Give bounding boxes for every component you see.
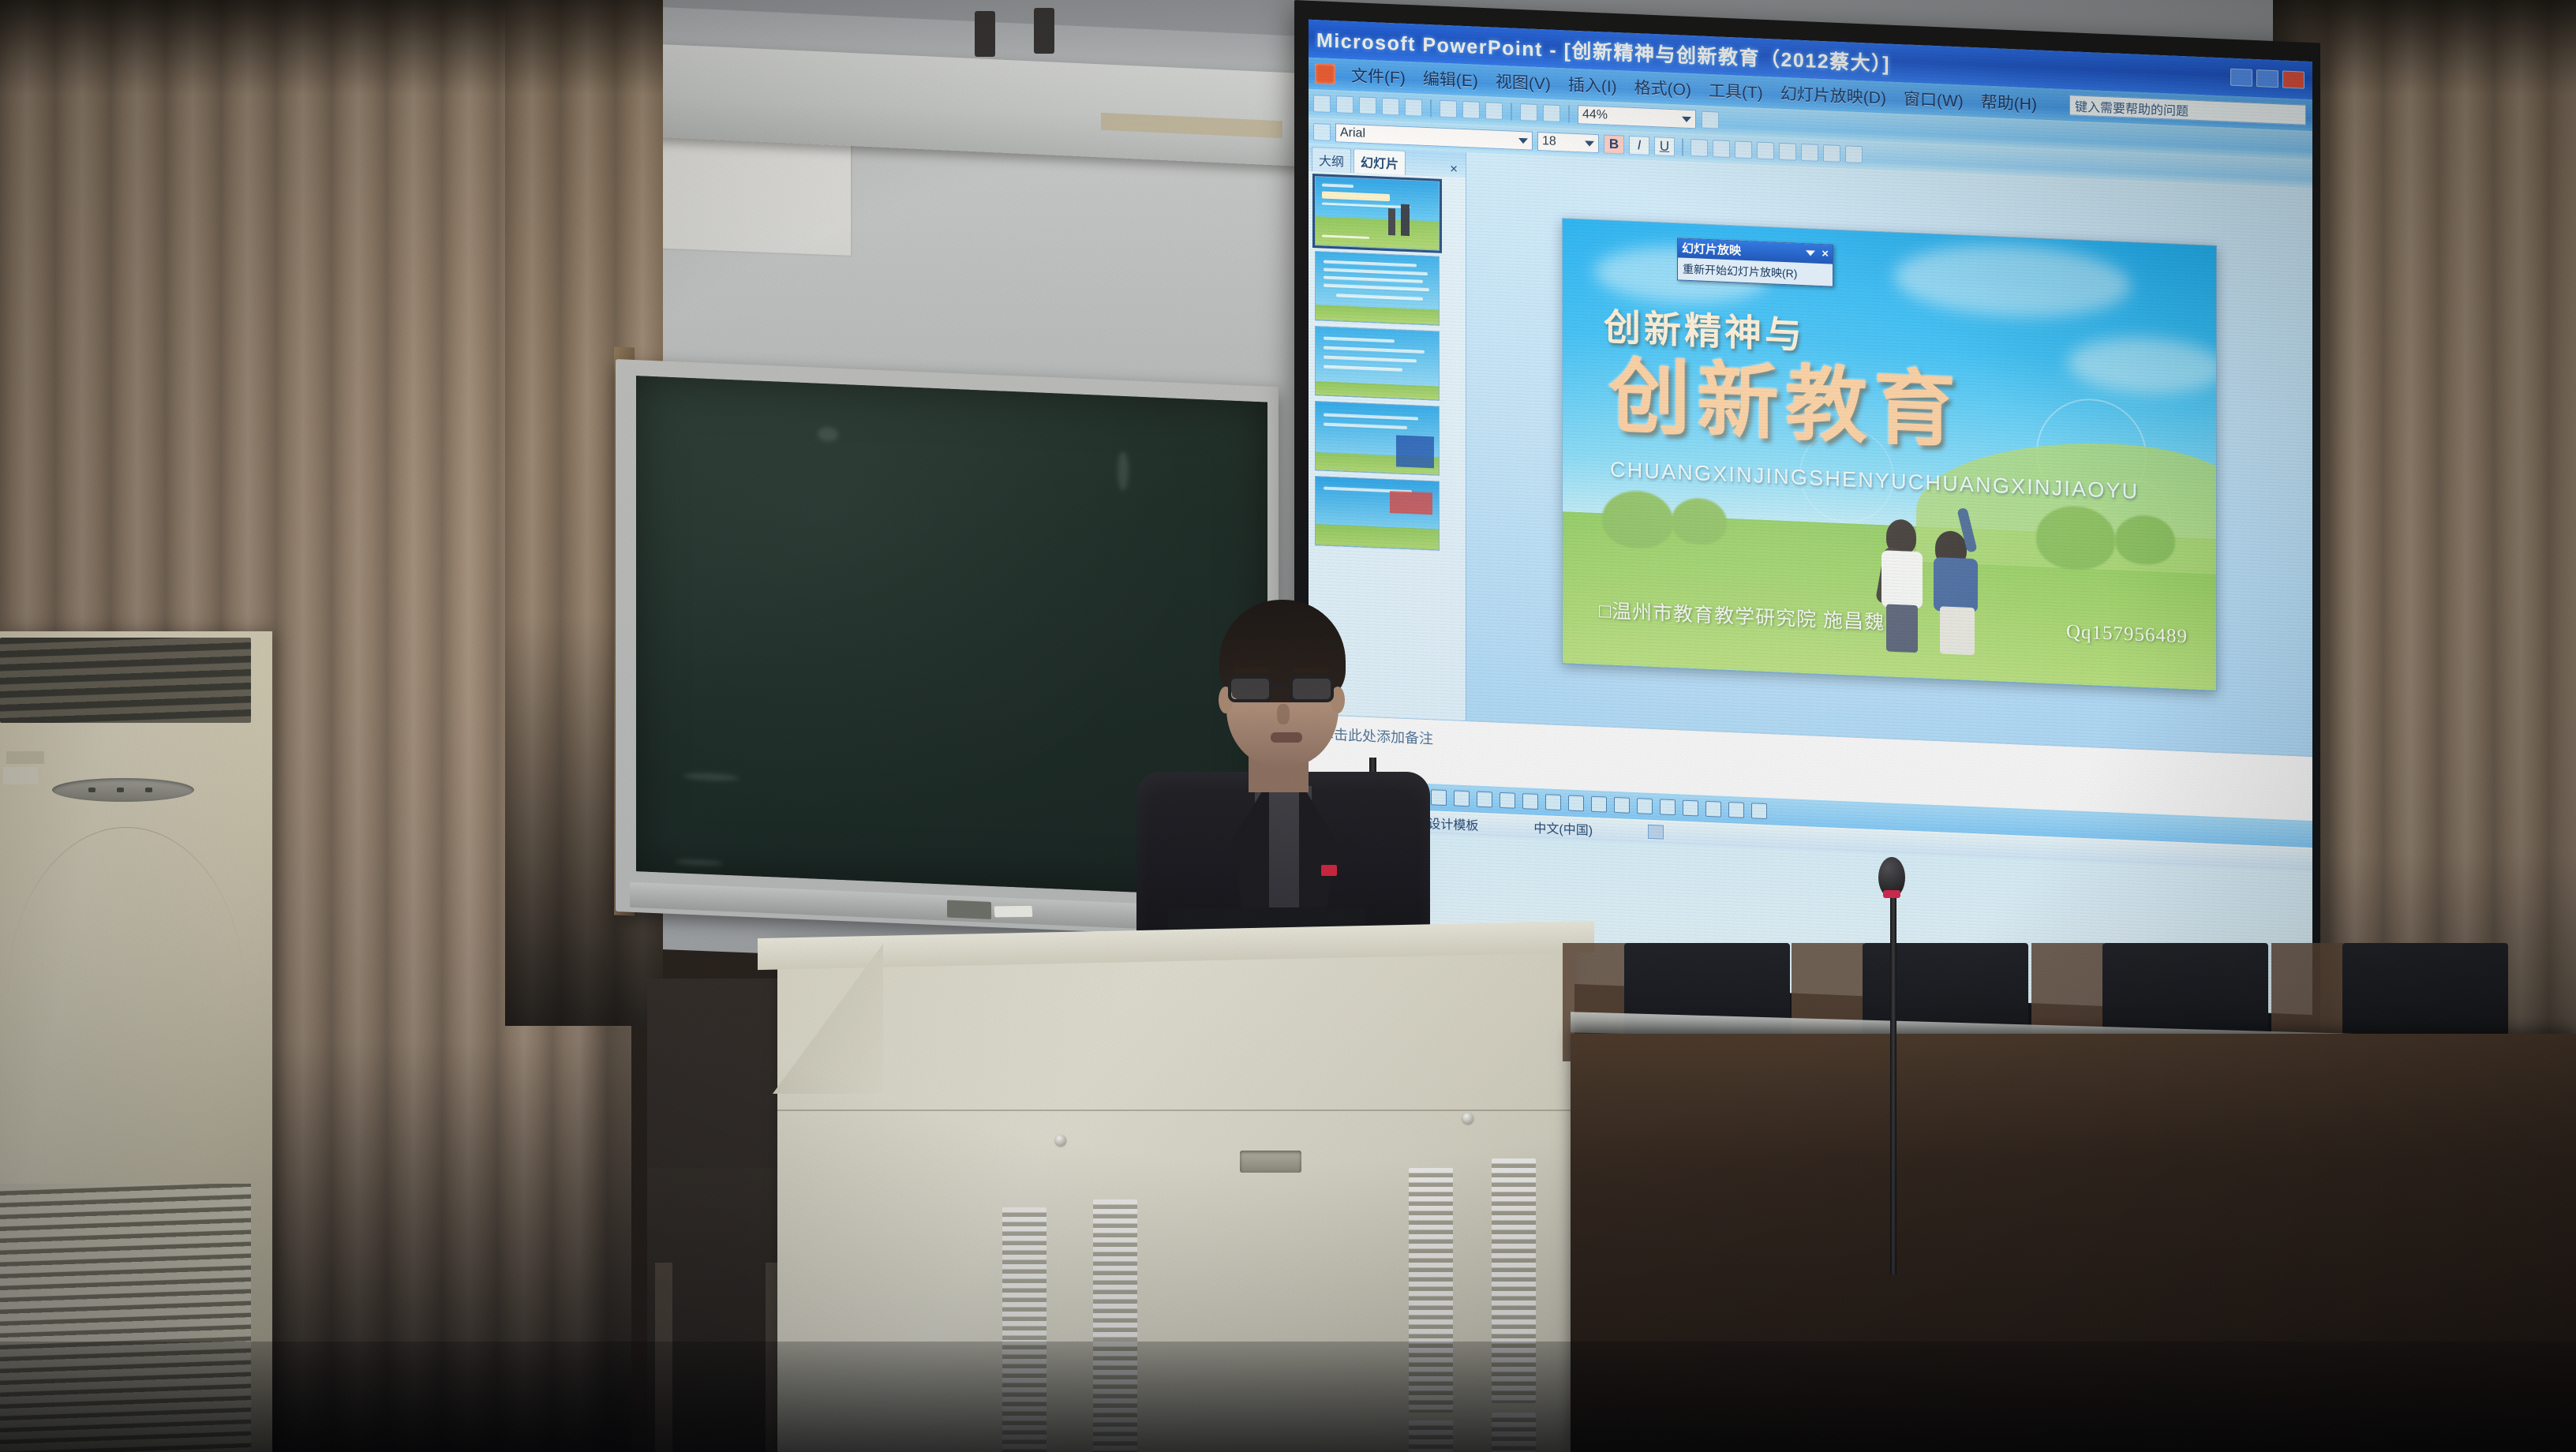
lectern-panel-seam bbox=[777, 1110, 1574, 1111]
slideshow-floating-toolbar[interactable]: 幻灯片放映 × 重新开始幻灯片放映(R) bbox=[1677, 238, 1833, 286]
lectern-screw bbox=[1055, 1135, 1066, 1146]
chalk-smudge bbox=[683, 773, 739, 782]
child-shirt bbox=[1881, 550, 1923, 608]
design-icon[interactable] bbox=[1823, 144, 1840, 163]
lecture-hall-photo: Microsoft PowerPoint - [创新精神与创新教育（2012蔡大… bbox=[0, 0, 2576, 1452]
align-center-icon[interactable] bbox=[1713, 140, 1730, 158]
chalk-smudge bbox=[818, 427, 838, 442]
shadow-icon[interactable] bbox=[1728, 802, 1744, 818]
tab-outline[interactable]: 大纲 bbox=[1312, 147, 1351, 173]
child-shirt bbox=[1934, 556, 1978, 612]
bullets-icon[interactable] bbox=[1757, 142, 1774, 160]
help-icon[interactable] bbox=[1702, 111, 1719, 129]
menu-item-insert[interactable]: 插入(I) bbox=[1560, 70, 1625, 99]
spellcheck-icon[interactable] bbox=[1648, 825, 1664, 840]
curtain-rod-bracket-right bbox=[1034, 8, 1054, 54]
font-color-icon[interactable] bbox=[1637, 798, 1653, 814]
child-pants bbox=[1940, 606, 1975, 655]
textbox-icon[interactable] bbox=[1477, 791, 1492, 808]
podium-microphone-stand bbox=[1890, 864, 1896, 1274]
powerpoint-main-area: 大纲 幻灯片 × bbox=[1309, 146, 2312, 756]
font-size-combobox[interactable]: 18 bbox=[1537, 132, 1599, 153]
chalk-smudge bbox=[676, 859, 723, 866]
insert-chart-icon[interactable] bbox=[1520, 103, 1537, 122]
menu-item-help[interactable]: 帮助(H) bbox=[1973, 88, 2045, 118]
toolbar-separator bbox=[1430, 99, 1432, 117]
outline-level-icon[interactable] bbox=[1313, 123, 1331, 141]
chevron-down-icon[interactable] bbox=[1518, 137, 1528, 144]
presenter-badge-pin bbox=[1321, 865, 1337, 876]
close-icon[interactable] bbox=[2282, 70, 2305, 88]
save-icon[interactable] bbox=[1359, 96, 1376, 114]
tab-slides[interactable]: 幻灯片 bbox=[1354, 148, 1406, 175]
align-right-icon[interactable] bbox=[1735, 140, 1752, 159]
line-style-icon[interactable] bbox=[1660, 799, 1676, 815]
italic-button[interactable]: I bbox=[1629, 136, 1649, 155]
thumbnail-figure bbox=[1388, 208, 1395, 235]
redo-icon[interactable] bbox=[1485, 102, 1503, 120]
zoom-combobox[interactable]: 44% bbox=[1578, 105, 1696, 129]
spelling-icon[interactable] bbox=[1440, 100, 1457, 118]
bold-button[interactable]: B bbox=[1604, 134, 1624, 154]
curtain-top-shadow-mid bbox=[505, 0, 663, 95]
window-controls[interactable] bbox=[2230, 69, 2305, 89]
thumbnail-grass bbox=[1316, 216, 1439, 250]
ac-brand-logo bbox=[6, 751, 44, 764]
presenter-eyebrow-right bbox=[1293, 668, 1329, 672]
rectangle-icon[interactable] bbox=[1431, 789, 1447, 806]
close-pane-icon[interactable]: × bbox=[1445, 161, 1462, 178]
new-icon[interactable] bbox=[1313, 95, 1331, 113]
projection-screen: Microsoft PowerPoint - [创新精神与创新教育（2012蔡大… bbox=[1294, 0, 2320, 1037]
decrease-font-icon[interactable] bbox=[1801, 144, 1818, 162]
menu-item-format[interactable]: 格式(O) bbox=[1627, 73, 1699, 103]
ac-top-louvers bbox=[0, 638, 251, 723]
presenter-mouth bbox=[1271, 732, 1302, 743]
thumbnail-image bbox=[1396, 435, 1434, 468]
diagram-icon[interactable] bbox=[1522, 793, 1538, 810]
print-preview-icon[interactable] bbox=[1405, 99, 1422, 117]
insert-table-icon[interactable] bbox=[1543, 104, 1560, 122]
lectern-handle[interactable] bbox=[1240, 1151, 1301, 1173]
slide-editing-stage[interactable]: 创新精神与 创新教育 CHUANGXINJINGSHENYUCHUANGXINJ… bbox=[1466, 152, 2312, 756]
zoom-value: 44% bbox=[1582, 107, 1608, 122]
menu-item-view[interactable]: 视图(V) bbox=[1488, 67, 1559, 97]
close-icon[interactable]: × bbox=[1822, 247, 1829, 260]
thumbnail-figure bbox=[1401, 204, 1410, 236]
undo-icon[interactable] bbox=[1462, 101, 1480, 119]
print-icon[interactable] bbox=[1382, 98, 1399, 116]
glasses-icon bbox=[1290, 675, 1334, 702]
design-template-label: 设计模板 bbox=[1428, 813, 1478, 834]
oval-icon[interactable] bbox=[1454, 790, 1470, 806]
minimize-icon[interactable] bbox=[2230, 69, 2252, 87]
open-icon[interactable] bbox=[1336, 95, 1354, 114]
ac-indicator-led bbox=[117, 788, 124, 792]
font-size-value: 18 bbox=[1542, 134, 1556, 149]
toolbar-separator bbox=[1682, 139, 1683, 156]
active-slide[interactable]: 创新精神与 创新教育 CHUANGXINJINGSHENYUCHUANGXINJ… bbox=[1562, 218, 2217, 691]
microphone-indicator bbox=[1883, 890, 1900, 898]
underline-button[interactable]: U bbox=[1654, 137, 1675, 156]
ac-indicator-led bbox=[88, 788, 95, 792]
chevron-down-icon[interactable] bbox=[1585, 140, 1594, 147]
powerpoint-window: Microsoft PowerPoint - [创新精神与创新教育（2012蔡大… bbox=[1309, 20, 2312, 1015]
slide-thumbnail-1[interactable] bbox=[1315, 176, 1440, 251]
align-left-icon[interactable] bbox=[1690, 139, 1708, 157]
dash-style-icon[interactable] bbox=[1683, 800, 1698, 817]
slide-title-line-2: 创新教育 bbox=[1608, 354, 1962, 451]
floating-toolbar-title: 幻灯片放映 bbox=[1682, 240, 1741, 259]
increase-font-icon[interactable] bbox=[1779, 143, 1796, 161]
chalk-stick bbox=[994, 906, 1033, 918]
ac-sticker bbox=[3, 767, 38, 784]
new-slide-icon[interactable] bbox=[1845, 145, 1863, 163]
menu-item-window[interactable]: 窗口(W) bbox=[1896, 84, 1971, 114]
slide-thumbnail-5[interactable] bbox=[1315, 476, 1440, 551]
slide-child-right bbox=[1930, 506, 1987, 658]
child-pants bbox=[1886, 604, 1918, 653]
menu-item-slideshow[interactable]: 幻灯片放映(D) bbox=[1773, 79, 1894, 110]
picture-icon[interactable] bbox=[1568, 795, 1584, 812]
powerpoint-app-icon bbox=[1315, 63, 1335, 84]
line-color-icon[interactable] bbox=[1614, 797, 1630, 814]
presenter-eyebrow-left bbox=[1233, 668, 1269, 672]
glasses-bridge bbox=[1271, 685, 1288, 688]
ac-body-contour bbox=[8, 827, 245, 1158]
blackboard-eraser bbox=[947, 900, 991, 919]
wordart-icon[interactable] bbox=[1500, 792, 1515, 809]
slide-thumbnail-4[interactable] bbox=[1315, 401, 1440, 476]
thumbnail-grass bbox=[1316, 524, 1439, 549]
lectern-screw bbox=[1462, 1113, 1473, 1124]
menu-item-file[interactable]: 文件(F) bbox=[1343, 62, 1413, 92]
chevron-down-icon[interactable] bbox=[1806, 250, 1815, 256]
font-name-value: Arial bbox=[1340, 125, 1365, 140]
glasses-icon bbox=[1228, 675, 1272, 702]
presenter-nose bbox=[1277, 704, 1290, 724]
font-name-combobox[interactable]: Arial bbox=[1335, 123, 1533, 150]
chevron-down-icon[interactable] bbox=[1682, 116, 1691, 122]
language-label: 中文(中国) bbox=[1533, 818, 1593, 839]
menu-item-tools[interactable]: 工具(T) bbox=[1701, 77, 1771, 107]
thumbnail-image bbox=[1390, 491, 1432, 515]
clipart-icon[interactable] bbox=[1545, 794, 1561, 810]
chalk-smudge bbox=[1118, 451, 1129, 492]
menu-item-edit[interactable]: 编辑(E) bbox=[1415, 64, 1486, 94]
slide-thumbnail-3[interactable] bbox=[1315, 326, 1440, 401]
restore-icon[interactable] bbox=[2256, 69, 2278, 88]
floor-shadow bbox=[0, 1342, 2576, 1452]
arrow-style-icon[interactable] bbox=[1705, 801, 1721, 818]
toolbar-separator bbox=[1568, 106, 1570, 123]
fill-color-icon[interactable] bbox=[1591, 796, 1607, 813]
3d-icon[interactable] bbox=[1751, 803, 1767, 819]
curtain-rod-bracket-left bbox=[975, 11, 995, 57]
chair-backrest bbox=[647, 979, 797, 1168]
slide-thumbnail-2[interactable] bbox=[1315, 251, 1440, 326]
help-question-input[interactable]: 键入需要帮助的问题 bbox=[2069, 95, 2306, 125]
ac-indicator-led bbox=[145, 788, 152, 792]
toolbar-separator bbox=[1511, 103, 1512, 120]
